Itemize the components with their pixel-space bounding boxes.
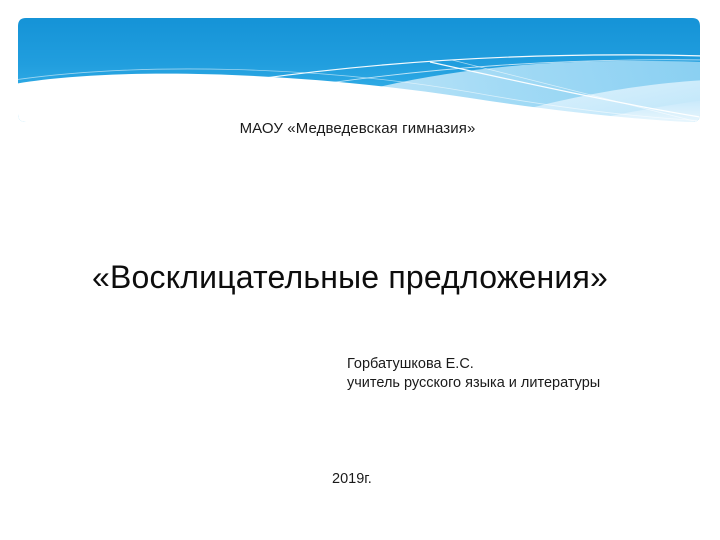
page-title: «Восклицательные предложения» bbox=[0, 258, 700, 296]
presentation-year: 2019г. bbox=[332, 470, 372, 489]
author-block: Горбатушкова Е.С. учитель русского языка… bbox=[347, 355, 600, 392]
author-role: учитель русского языка и литературы bbox=[347, 374, 600, 393]
organization-name: МАОУ «Медведевская гимназия» bbox=[0, 119, 715, 138]
presentation-title-slide: МАОУ «Медведевская гимназия» «Восклицате… bbox=[0, 0, 720, 540]
author-name: Горбатушкова Е.С. bbox=[347, 355, 600, 374]
wave-banner-decoration bbox=[0, 0, 720, 130]
